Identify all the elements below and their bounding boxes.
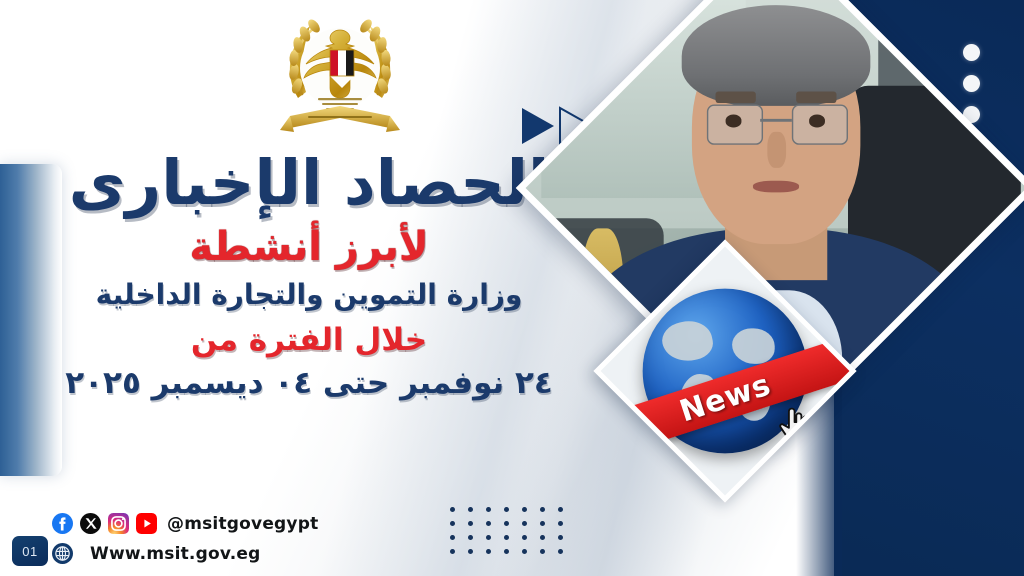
instagram-icon[interactable] [108, 513, 129, 534]
facebook-icon[interactable] [52, 513, 73, 534]
website-url: Www.msit.gov.eg [90, 544, 260, 564]
social-handle: @msitgovegypt [167, 514, 318, 534]
social-row: @msitgovegypt [52, 513, 318, 534]
x-icon[interactable] [80, 513, 101, 534]
website-row: Www.msit.gov.eg [52, 543, 318, 564]
dot-grid-decoration [437, 507, 563, 563]
media-area: News [556, 0, 996, 548]
ministry-name: وزارة التموين والتجارة الداخلية [46, 280, 572, 310]
subtitle: لأبرز أنشطة [46, 226, 572, 268]
youtube-icon[interactable] [136, 513, 157, 534]
egypt-government-emblem [268, 6, 412, 150]
footer: @msitgovegypt Www.msit.gov.eg [52, 513, 318, 564]
news-poster: 01 [0, 0, 1024, 576]
globe-icon[interactable] [52, 543, 73, 564]
page-title: الحصاد الإخبارى [46, 150, 572, 216]
page-number-badge: 01 [12, 536, 48, 566]
headline-block: الحصاد الإخبارى لأبرز أنشطة وزارة التموي… [46, 150, 572, 400]
period-dates: ٢٤ نوفمبر حتى ٠٤ ديسمبر ٢٠٢٥ [46, 367, 572, 400]
period-label: خلال الفترة من [46, 324, 572, 357]
hand-cursor-icon [776, 402, 813, 445]
